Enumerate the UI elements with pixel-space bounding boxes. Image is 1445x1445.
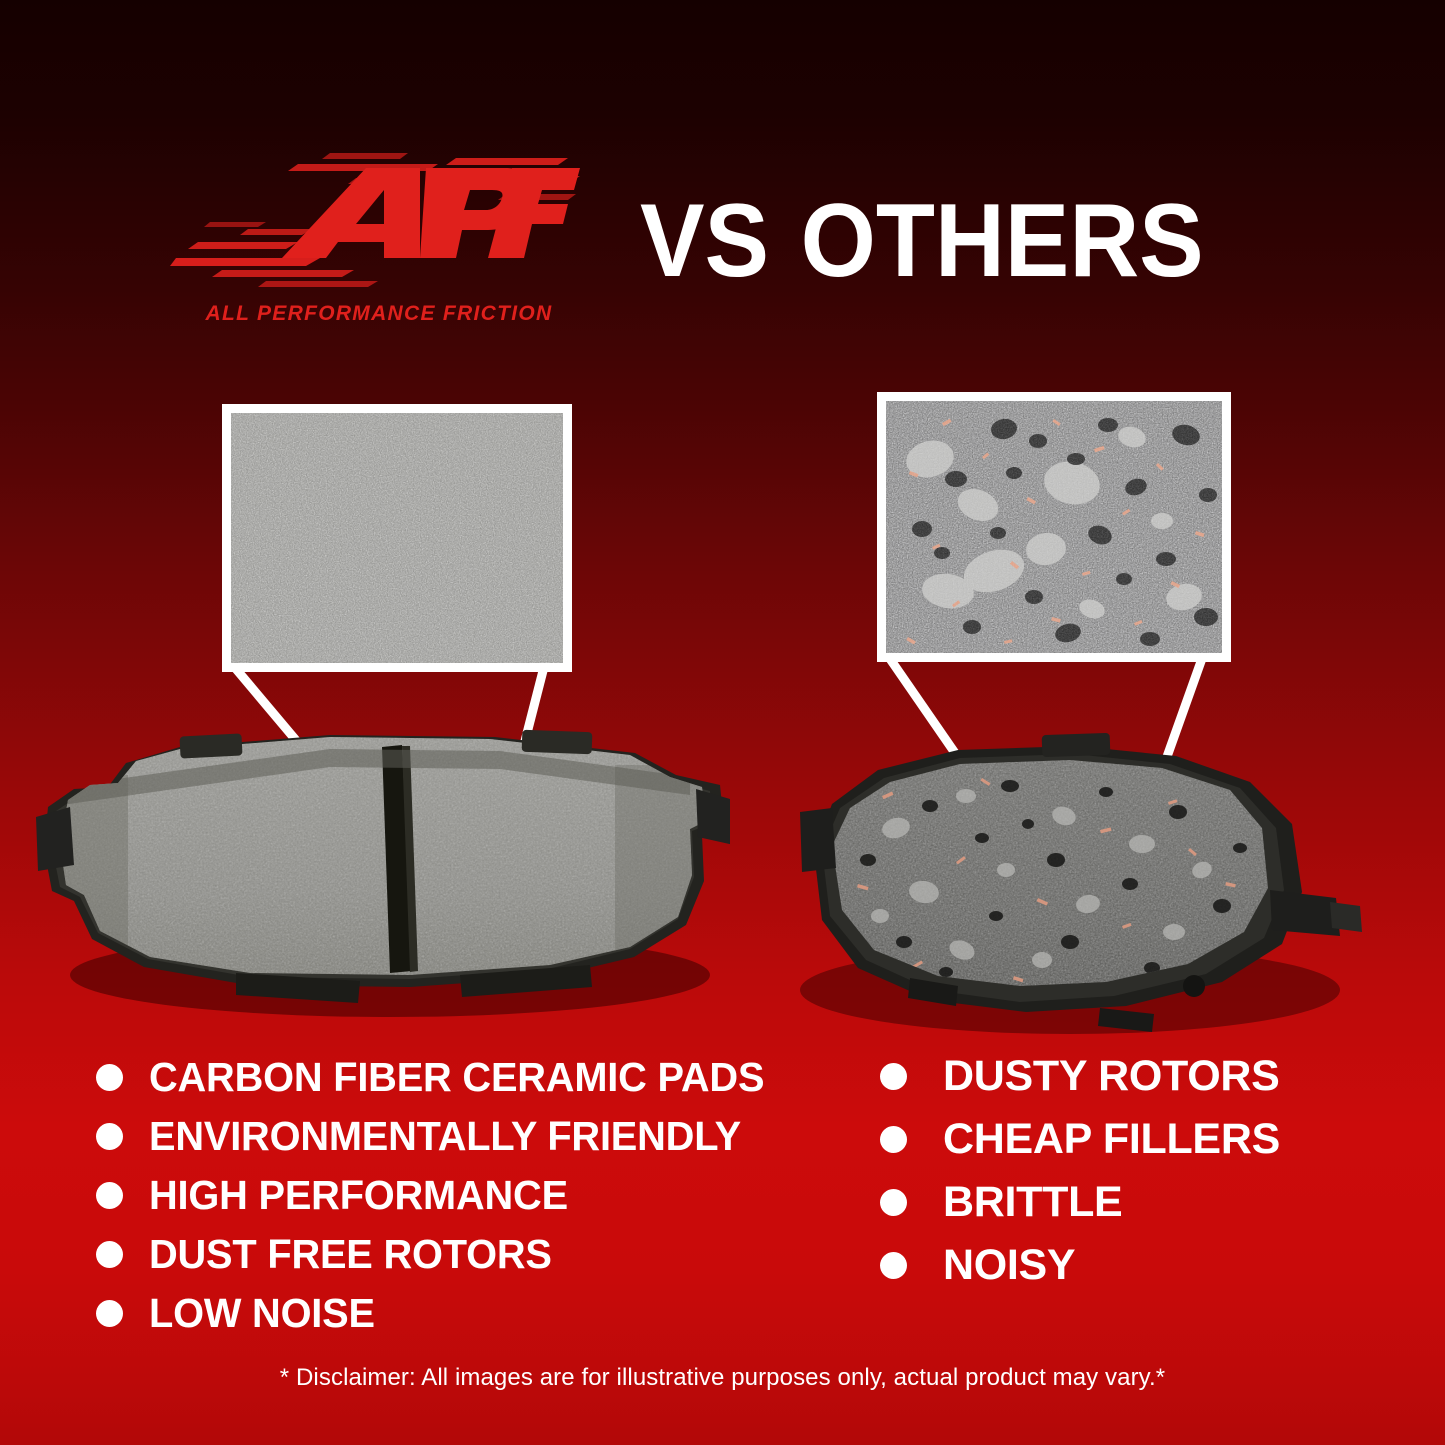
brand-logo: ALL PERFORMANCE FRICTION: [170, 150, 580, 340]
apf-feature-list: CARBON FIBER CERAMIC PADS ENVIRONMENTALL…: [96, 1052, 816, 1347]
apf-brake-pad-image: [30, 725, 730, 1035]
competitor-brake-pad-image: [770, 720, 1370, 1050]
feature-label: HIGH PERFORMANCE: [149, 1170, 568, 1220]
title-vs: VS: [640, 183, 769, 299]
list-item: DUSTY ROTORS: [880, 1050, 1340, 1102]
feature-label: CARBON FIBER CERAMIC PADS: [149, 1052, 764, 1102]
title-others: OTHERS: [801, 183, 1204, 299]
page-title: VSOTHERS: [640, 186, 1310, 296]
feature-label: LOW NOISE: [149, 1288, 375, 1338]
bullet-icon: [96, 1182, 123, 1209]
feature-label: NOISY: [943, 1239, 1075, 1291]
apf-logo-icon: [170, 150, 580, 300]
bullet-icon: [880, 1063, 907, 1090]
infographic-root: ALL PERFORMANCE FRICTION VSOTHERS: [0, 0, 1445, 1445]
list-item: BRITTLE: [880, 1176, 1340, 1228]
competitor-feature-list: DUSTY ROTORS CHEAP FILLERS BRITTLE NOISY: [880, 1050, 1340, 1302]
feature-label: DUSTY ROTORS: [943, 1050, 1279, 1102]
right-texture-callout-frame: [877, 392, 1231, 662]
brand-tagline: ALL PERFORMANCE FRICTION: [204, 302, 554, 326]
bullet-icon: [96, 1064, 123, 1091]
list-item: LOW NOISE: [96, 1288, 816, 1338]
bullet-icon: [96, 1300, 123, 1327]
left-texture-swatch: [231, 413, 563, 663]
left-texture-callout-frame: [222, 404, 572, 672]
list-item: NOISY: [880, 1239, 1340, 1291]
list-item: CARBON FIBER CERAMIC PADS: [96, 1052, 816, 1102]
left-pad-graphic: [30, 725, 730, 1035]
bullet-icon: [96, 1241, 123, 1268]
list-item: CHEAP FILLERS: [880, 1113, 1340, 1165]
feature-label: DUST FREE ROTORS: [149, 1229, 552, 1279]
bullet-icon: [880, 1252, 907, 1279]
list-item: HIGH PERFORMANCE: [96, 1170, 816, 1220]
feature-label: BRITTLE: [943, 1176, 1122, 1228]
right-pad-graphic: [770, 720, 1370, 1050]
disclaimer-text: * Disclaimer: All images are for illustr…: [0, 1364, 1445, 1392]
bullet-icon: [880, 1189, 907, 1216]
list-item: ENVIRONMENTALLY FRIENDLY: [96, 1111, 816, 1161]
right-texture-swatch: [886, 401, 1222, 653]
list-item: DUST FREE ROTORS: [96, 1229, 816, 1279]
feature-label: CHEAP FILLERS: [943, 1113, 1280, 1165]
bullet-icon: [880, 1126, 907, 1153]
bullet-icon: [96, 1123, 123, 1150]
header: ALL PERFORMANCE FRICTION VSOTHERS: [0, 0, 1445, 350]
feature-label: ENVIRONMENTALLY FRIENDLY: [149, 1111, 741, 1161]
